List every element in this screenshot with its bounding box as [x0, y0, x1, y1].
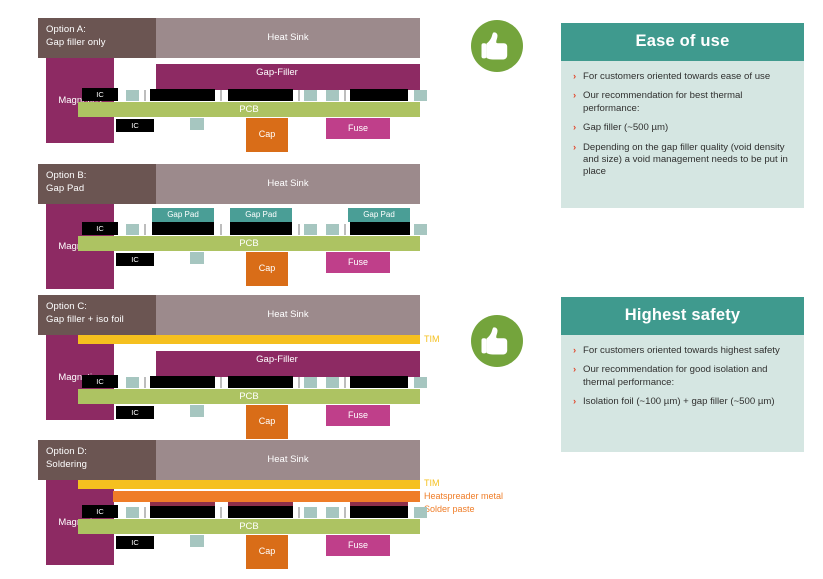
bullet-text: Isolation foil (~100 µm) + gap filler (~…: [583, 396, 790, 408]
bullet-text: Our recommendation for best thermal perf…: [583, 90, 790, 115]
option-a-pcb: PCB: [78, 102, 420, 117]
lead-wire: [298, 507, 300, 518]
smd-component: [326, 507, 339, 518]
chip-package: [228, 506, 293, 518]
option-d-title-line2: Soldering: [46, 459, 156, 472]
lead-wire: [220, 90, 222, 101]
lead-wire: [220, 224, 222, 235]
option-b-cap: Cap: [246, 252, 288, 286]
lead-wire: [298, 224, 300, 235]
option-d-cap: Cap: [246, 535, 288, 569]
lead-wire: [144, 90, 146, 101]
chevron-right-icon: ›: [573, 142, 576, 154]
option-d-solder-paste-label: Solder paste: [424, 503, 475, 515]
option-b-ic-top: IC: [82, 222, 118, 235]
option-a-heat-sink: Heat Sink: [156, 18, 420, 58]
option-a-fuse: Fuse: [326, 118, 390, 139]
bullet-item: › Our recommendation for good isolation …: [573, 364, 790, 389]
chip-package: [150, 89, 215, 101]
lead-wire: [298, 90, 300, 101]
option-b-gap-pad-1: Gap Pad: [152, 208, 214, 222]
option-b-gap-pad-2: Gap Pad: [230, 208, 292, 222]
smd-component: [414, 377, 427, 388]
smd-component: [190, 118, 204, 130]
diagram-option-d: Option D: Soldering Heat Sink Magnetics …: [38, 440, 420, 566]
option-b-title: Option B: Gap Pad: [38, 164, 156, 204]
option-d-ic-bottom: IC: [116, 536, 154, 549]
option-b-heat-sink: Heat Sink: [156, 164, 420, 204]
lead-wire: [220, 377, 222, 388]
option-d-ic-top: IC: [82, 505, 118, 518]
option-c-pcb: PCB: [78, 389, 420, 404]
bullet-item: › Isolation foil (~100 µm) + gap filler …: [573, 396, 790, 408]
lead-wire: [344, 377, 346, 388]
bullet-item: › Our recommendation for best thermal pe…: [573, 90, 790, 115]
option-c-title-line2: Gap filler + iso foil: [46, 314, 156, 327]
diagram-option-a: Option A: Gap filler only Heat Sink Magn…: [38, 18, 420, 144]
bullet-text: For customers oriented towards ease of u…: [583, 71, 790, 83]
option-b-title-line1: Option B:: [46, 170, 156, 183]
chip-package: [150, 506, 215, 518]
chevron-right-icon: ›: [573, 396, 576, 408]
option-d-title: Option D: Soldering: [38, 440, 156, 480]
diagram-option-b: Option B: Gap Pad Heat Sink Magnetics Ga…: [38, 164, 420, 290]
option-c-gap-filler-label: Gap-Filler: [156, 351, 420, 365]
option-c-ic-bottom: IC: [116, 406, 154, 419]
chevron-right-icon: ›: [573, 122, 576, 134]
option-d-heatspreader-layer: [113, 491, 420, 502]
option-d-heatspreader-label: Heatspreader metal: [424, 490, 503, 502]
thumbs-up-icon-ease-of-use: [471, 20, 523, 72]
smd-component: [326, 90, 339, 101]
smd-component: [126, 377, 139, 388]
smd-component: [326, 377, 339, 388]
smd-component: [190, 252, 204, 264]
bullet-text: For customers oriented towards highest s…: [583, 345, 790, 357]
lead-wire: [144, 224, 146, 235]
chip-package: [350, 376, 408, 388]
panel-ease-of-use-heading: Ease of use: [561, 23, 804, 61]
chevron-right-icon: ›: [573, 364, 576, 376]
option-a-title-line2: Gap filler only: [46, 37, 156, 50]
option-c-fuse: Fuse: [326, 405, 390, 426]
option-c-heat-sink: Heat Sink: [156, 295, 420, 335]
chip-package: [228, 89, 293, 101]
lead-wire: [344, 507, 346, 518]
option-c-tim-label: TIM: [424, 333, 440, 345]
chevron-right-icon: ›: [573, 345, 576, 357]
option-c-gap-filler: Gap-Filler: [156, 351, 420, 377]
lead-wire: [344, 224, 346, 235]
lead-wire: [144, 507, 146, 518]
option-c-ic-top: IC: [82, 375, 118, 388]
smd-component: [414, 507, 427, 518]
chevron-right-icon: ›: [573, 90, 576, 102]
smd-component: [126, 224, 139, 235]
option-c-title: Option C: Gap filler + iso foil: [38, 295, 156, 335]
option-b-pcb: PCB: [78, 236, 420, 251]
smd-component: [126, 507, 139, 518]
chip-package: [230, 222, 292, 235]
bullet-text: Gap filler (~500 µm): [583, 122, 790, 134]
chip-package: [350, 89, 408, 101]
smd-component: [414, 90, 427, 101]
panel-highest-safety-body: › For customers oriented towards highest…: [561, 335, 804, 430]
option-a-title: Option A: Gap filler only: [38, 18, 156, 58]
smd-component: [326, 224, 339, 235]
bullet-text: Our recommendation for good isolation an…: [583, 364, 790, 389]
chevron-right-icon: ›: [573, 71, 576, 83]
option-b-gap-pad-3: Gap Pad: [348, 208, 410, 222]
chip-package: [150, 376, 215, 388]
bullet-item: › For customers oriented towards ease of…: [573, 71, 790, 83]
option-a-ic-bottom: IC: [116, 119, 154, 132]
bullet-item: › Gap filler (~500 µm): [573, 122, 790, 134]
smd-component: [304, 377, 317, 388]
option-d-fuse: Fuse: [326, 535, 390, 556]
option-d-tim-label: TIM: [424, 477, 440, 489]
panel-highest-safety-heading: Highest safety: [561, 297, 804, 335]
smd-component: [304, 90, 317, 101]
lead-wire: [344, 90, 346, 101]
smd-component: [414, 224, 427, 235]
option-a-title-line1: Option A:: [46, 24, 156, 37]
smd-component: [304, 507, 317, 518]
option-a-gap-filler-label: Gap-Filler: [156, 64, 420, 78]
smd-component: [126, 90, 139, 101]
bullet-item: › For customers oriented towards highest…: [573, 345, 790, 357]
smd-component: [190, 405, 204, 417]
chip-package: [152, 222, 214, 235]
option-d-heat-sink: Heat Sink: [156, 440, 420, 480]
panel-ease-of-use-body: › For customers oriented towards ease of…: [561, 61, 804, 200]
diagram-option-c: Option C: Gap filler + iso foil Heat Sin…: [38, 295, 420, 421]
option-c-tim-layer: [78, 335, 420, 344]
panel-highest-safety: Highest safety › For customers oriented …: [561, 297, 804, 452]
panel-ease-of-use: Ease of use › For customers oriented tow…: [561, 23, 804, 208]
chip-package: [350, 222, 410, 235]
option-d-tim-layer: [78, 480, 420, 489]
option-b-fuse: Fuse: [326, 252, 390, 273]
lead-wire: [298, 377, 300, 388]
thumbs-up-icon-highest-safety: [471, 315, 523, 367]
option-d-pcb: PCB: [78, 519, 420, 534]
option-b-ic-bottom: IC: [116, 253, 154, 266]
chip-package: [228, 376, 293, 388]
option-c-title-line1: Option C:: [46, 301, 156, 314]
option-a-gap-filler: Gap-Filler: [156, 64, 420, 90]
bullet-item: › Depending on the gap filler quality (v…: [573, 142, 790, 179]
lead-wire: [144, 377, 146, 388]
option-b-title-line2: Gap Pad: [46, 183, 156, 196]
bullet-text: Depending on the gap filler quality (voi…: [583, 142, 790, 179]
option-d-title-line1: Option D:: [46, 446, 156, 459]
option-a-ic-top: IC: [82, 88, 118, 101]
lead-wire: [220, 507, 222, 518]
option-a-cap: Cap: [246, 118, 288, 152]
smd-component: [190, 535, 204, 547]
smd-component: [304, 224, 317, 235]
option-c-cap: Cap: [246, 405, 288, 439]
chip-package: [350, 506, 408, 518]
